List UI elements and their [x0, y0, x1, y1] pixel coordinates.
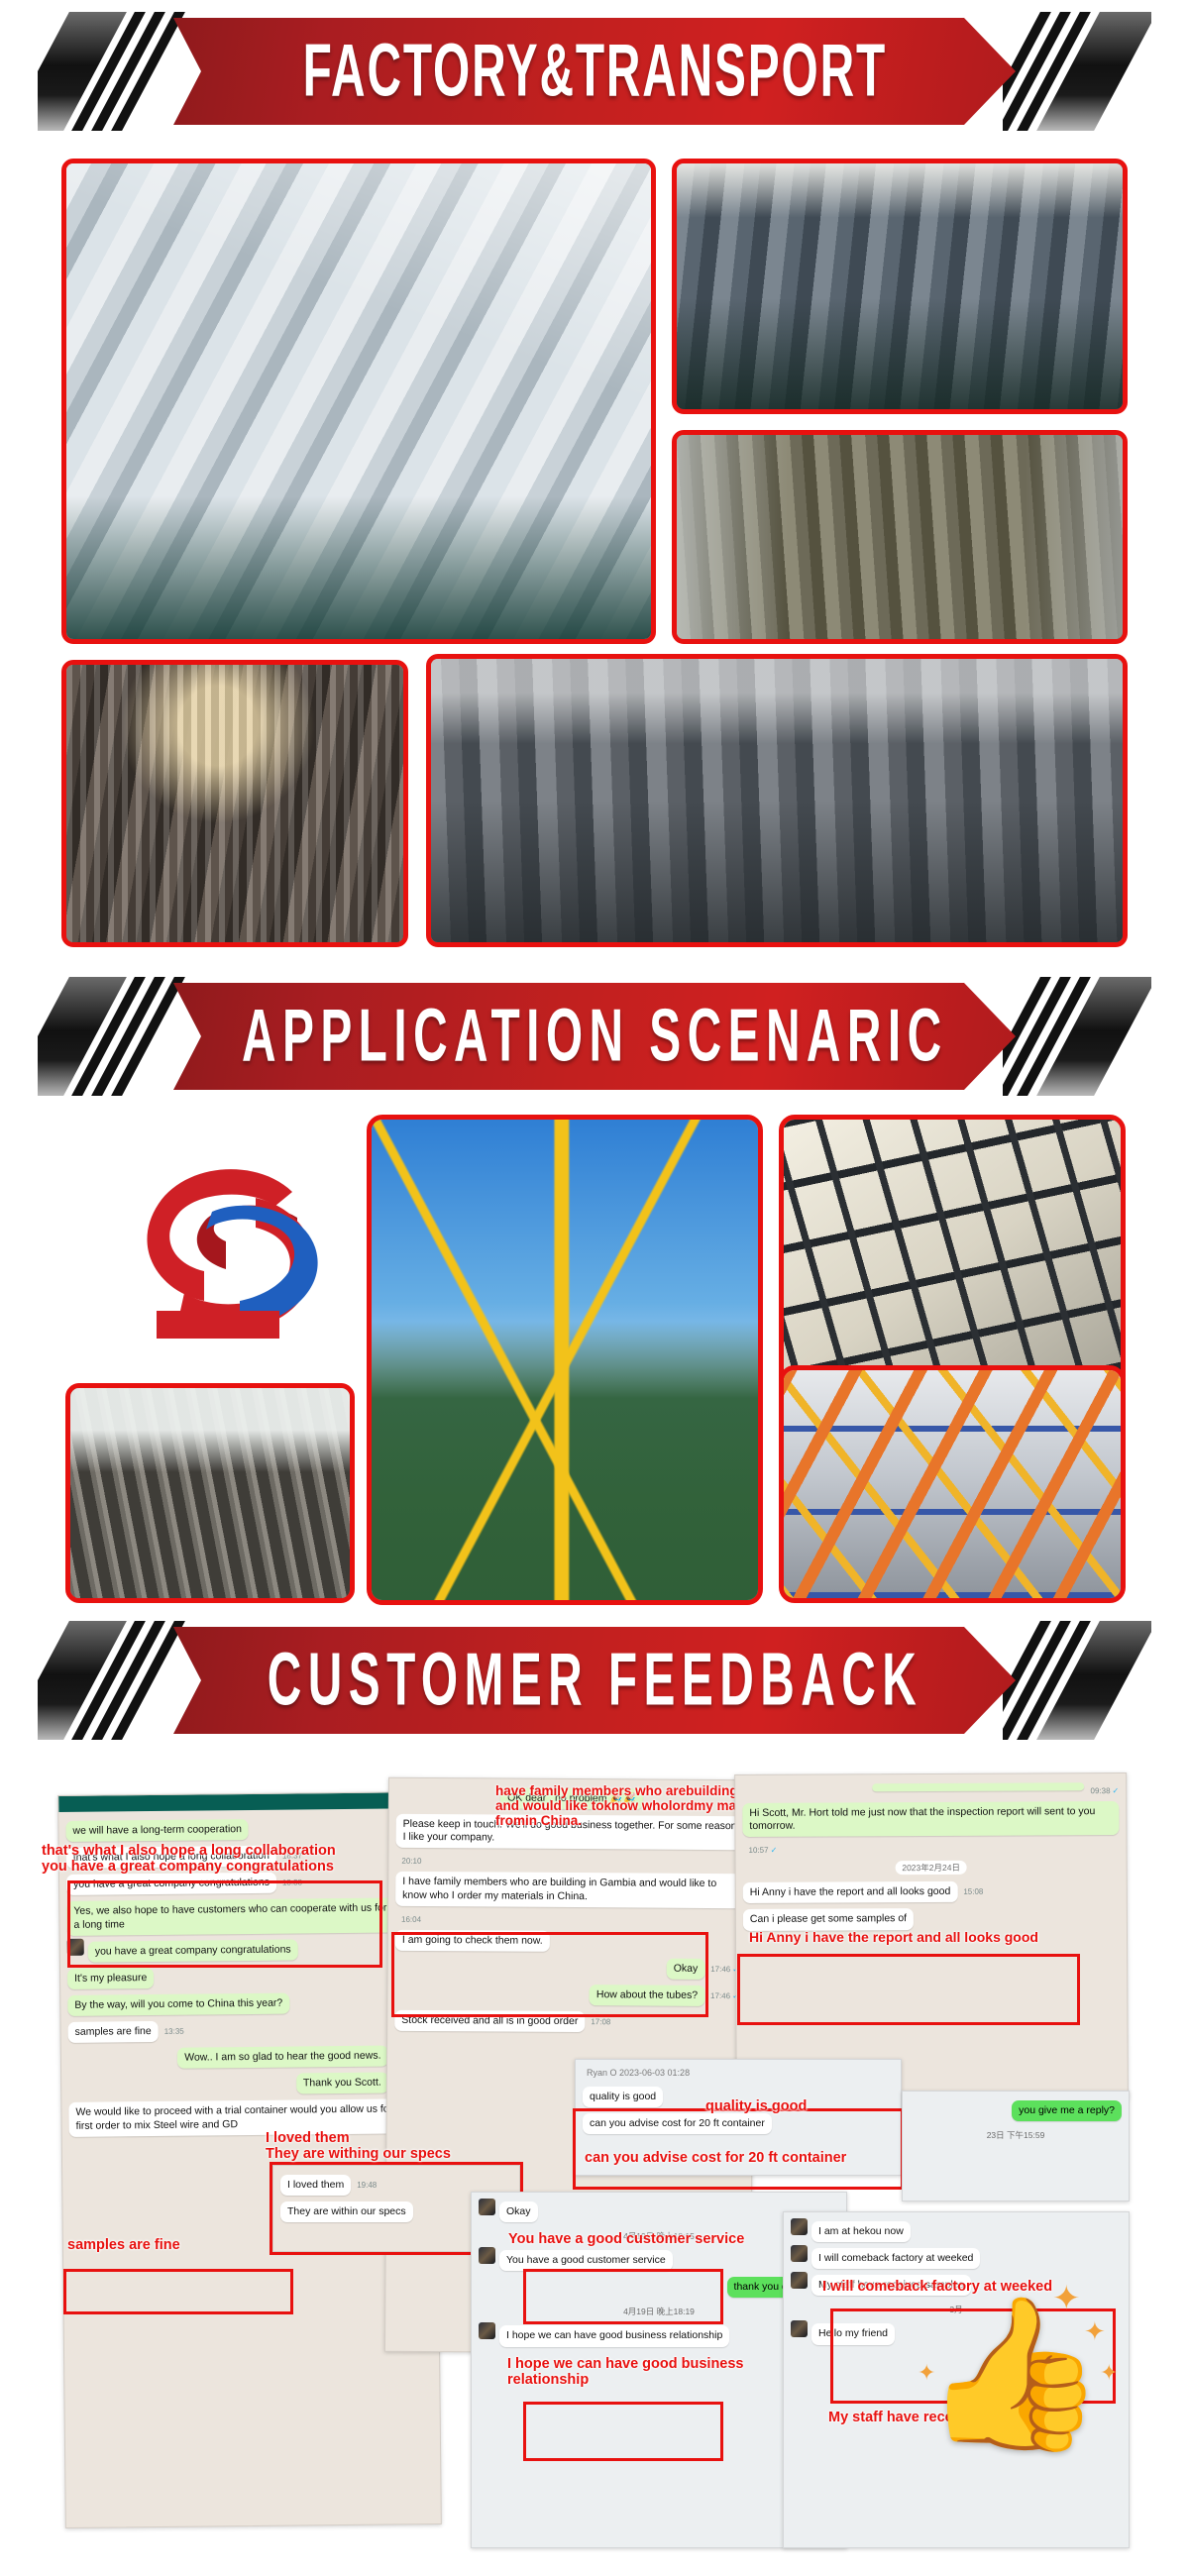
- chat-time: 17:46: [710, 1965, 730, 1974]
- chat-bubble: It's my pleasure: [67, 1968, 154, 1989]
- banner-plate: FACTORY&TRANSPORT: [173, 18, 1016, 125]
- section-banner-feedback: CUSTOMER FEEDBACK: [0, 1621, 1189, 1740]
- chat-message-list: you give me a reply? 23日 下午15:59: [903, 2092, 1129, 2152]
- application-photo-crane: [367, 1115, 763, 1605]
- chat-message-list: 09:38✓ Hi Scott, Mr. Hort told me just n…: [735, 1773, 1127, 1940]
- annotation-text: quality is good: [705, 2098, 807, 2114]
- chat-bubble: you give me a reply?: [1012, 2100, 1122, 2121]
- chat-time: 16:04: [401, 1914, 421, 1923]
- annotation-text: that's what I also hope a long collabora…: [42, 1843, 418, 1875]
- container-loading-long-bars: [66, 665, 403, 942]
- chat-bubble: Hi Anny i have the report and all looks …: [743, 1881, 958, 1903]
- chat-time: 09:38: [1090, 1786, 1110, 1795]
- banner-stripes-right: [1003, 1621, 1151, 1740]
- annotation-text: can you advise cost for 20 ft container: [585, 2150, 846, 2166]
- chat-bubble: I have family members who are building i…: [395, 1872, 746, 1908]
- chat-bubble: Okay: [499, 2201, 538, 2222]
- application-photo-robots: [779, 1365, 1126, 1603]
- chat-time: 17:46: [710, 1991, 730, 2000]
- chat-bubble: Wow.. I am so glad to hear the good news…: [177, 2046, 387, 2069]
- factory-photo-1: [61, 159, 656, 644]
- factory-photo-5: [426, 654, 1128, 947]
- chat-bubble: Hi Scott, Mr. Hort told me just now that…: [742, 1801, 1119, 1837]
- chat-date-chip: 23日 下午15:59: [980, 2128, 1052, 2142]
- chat-time: 20:10: [401, 1857, 421, 1866]
- chat-date-chip: 2023年2月24日: [895, 1861, 967, 1875]
- section-title-application: APPLICATION SCENARIC: [242, 994, 948, 1080]
- banner-stripes-left: [38, 1621, 186, 1740]
- avatar: [791, 2245, 808, 2262]
- robotic-assembly-line: [784, 1370, 1121, 1598]
- annotation-text: I hope we can have good business relatio…: [507, 2356, 775, 2388]
- highlight-box: [67, 1880, 382, 1968]
- chat-bubble: Thank you Scott.: [296, 2073, 388, 2094]
- factory-photo-4: [61, 660, 408, 947]
- section-banner-application: APPLICATION SCENARIC: [0, 977, 1189, 1096]
- company-logo: [109, 1144, 337, 1357]
- avatar: [791, 2218, 808, 2235]
- railway-freight-yard: [70, 1388, 350, 1598]
- read-tick-icon: ✓: [1113, 1786, 1120, 1795]
- application-photo-railway: [65, 1383, 355, 1603]
- chat-time: 10:57: [749, 1846, 769, 1855]
- chat-bubble: samples are fine: [68, 2021, 159, 2043]
- product-detail-page: FACTORY&TRANSPORT APPLICATION SCENARIC: [0, 0, 1189, 2576]
- highlight-box: [737, 1954, 1080, 2025]
- tower-crane-site: [372, 1120, 758, 1600]
- banner-stripes-right: [1003, 12, 1151, 131]
- chat-bubble: quality is good: [583, 2087, 663, 2107]
- chat-bubble: [872, 1782, 1084, 1791]
- annotation-text: I loved them They are withing our specs: [266, 2130, 451, 2162]
- avatar: [479, 2322, 495, 2339]
- highlight-box: [523, 2269, 723, 2324]
- section-title-factory: FACTORY&TRANSPORT: [302, 29, 886, 115]
- factory-stock-yard-angle-steel: [431, 659, 1123, 942]
- chat-sender-line: Ryan O 2023-06-03 01:28: [583, 2066, 894, 2084]
- chat-bubble: I will comeback factory at weeked: [811, 2248, 980, 2269]
- warehouse-flat-bar-rows: [677, 163, 1123, 409]
- banner-stripes-left: [38, 977, 186, 1096]
- chat-bubble: I hope we can have good business relatio…: [499, 2325, 729, 2346]
- avatar: [791, 2272, 808, 2289]
- banner-stripes-right: [1003, 977, 1151, 1096]
- chat-bubble: By the way, will you come to China this …: [67, 1992, 289, 2015]
- highlight-box: [573, 2108, 904, 2190]
- chat-bubble: we will have a long-term cooperation: [65, 1819, 249, 1842]
- chat-bubble: I am at hekou now: [811, 2221, 911, 2242]
- factory-photo-2: [672, 159, 1128, 414]
- factory-photo-3: [672, 430, 1128, 644]
- chat-reply-request: you give me a reply? 23日 下午15:59: [902, 2091, 1130, 2201]
- read-tick-icon: ✓: [771, 1846, 778, 1855]
- banner-plate: CUSTOMER FEEDBACK: [173, 1627, 1016, 1734]
- banner-stripes-left: [38, 12, 186, 131]
- highlight-box: [523, 2402, 723, 2461]
- strapped-bundles-in-container: [677, 435, 1123, 639]
- section-banner-factory: FACTORY&TRANSPORT: [0, 12, 1189, 131]
- galvanized-steel-bundles-yard: [66, 163, 651, 639]
- avatar: [479, 2199, 495, 2215]
- section-title-feedback: CUSTOMER FEEDBACK: [267, 1638, 921, 1724]
- chat-time: 15:08: [963, 1887, 983, 1896]
- chat-bubble: Can i please get some samples of: [743, 1908, 914, 1930]
- logo-s-icon: [109, 1144, 337, 1357]
- thumbs-up-icon: 👍: [921, 2299, 1107, 2447]
- avatar: [791, 2320, 808, 2337]
- avatar: [479, 2247, 495, 2264]
- highlight-box: [63, 2269, 293, 2314]
- chat-time: 17:08: [591, 2017, 610, 2026]
- banner-plate: APPLICATION SCENARIC: [173, 983, 1016, 1090]
- chat-time: 13:35: [164, 2027, 184, 2036]
- annotation-text: samples are fine: [67, 2237, 180, 2253]
- highlight-box: [391, 1932, 708, 2017]
- annotation-text: You have a good customer service: [508, 2231, 744, 2247]
- annotation-text: Hi Anny i have the report and all looks …: [749, 1930, 1038, 1946]
